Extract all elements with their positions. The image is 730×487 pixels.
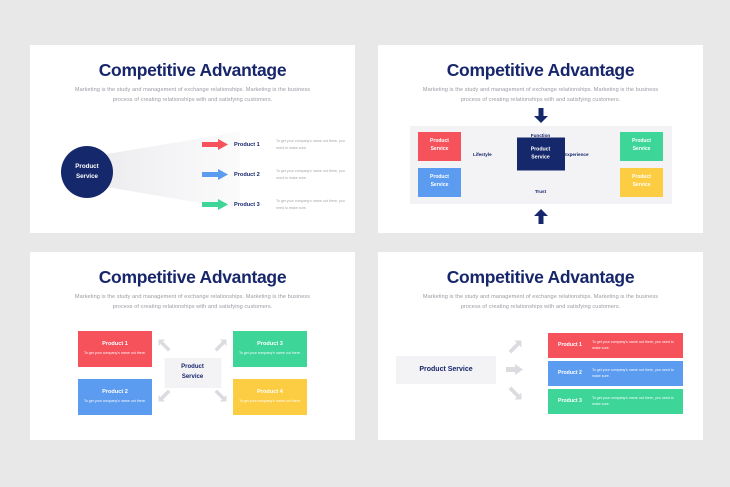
box-title: Product 3 bbox=[257, 341, 283, 347]
label-function: Function bbox=[531, 133, 550, 138]
list-item-title: Product 3 bbox=[234, 202, 272, 208]
label-experience: Experience bbox=[564, 152, 589, 157]
arrow-up-right-icon bbox=[508, 340, 522, 354]
arrow-up-right-icon bbox=[214, 339, 227, 352]
row-product-3[interactable]: Product 3 To get your company's name out… bbox=[548, 389, 683, 414]
row-title: Product 3 bbox=[548, 398, 592, 404]
box-label-line2: Service bbox=[431, 182, 449, 190]
arrow-right-icon bbox=[506, 364, 523, 375]
core-label-line1: Product bbox=[531, 146, 551, 154]
page-subtitle: Marketing is the study and management of… bbox=[418, 293, 664, 313]
box-product-1[interactable]: Product 1 To get your company's name out… bbox=[78, 331, 152, 367]
circle-label-line2: Service bbox=[76, 172, 98, 181]
row-product-2[interactable]: Product 2 To get your company's name out… bbox=[548, 361, 683, 386]
core-product-service-box[interactable]: Product Service bbox=[517, 137, 565, 170]
page-subtitle: Marketing is the study and management of… bbox=[70, 293, 316, 313]
page-subtitle: Marketing is the study and management of… bbox=[418, 86, 664, 106]
box-top-right[interactable]: Product Service bbox=[620, 132, 663, 161]
list-item-title: Product 2 bbox=[234, 172, 272, 178]
slide-3[interactable]: Competitive Advantage Marketing is the s… bbox=[30, 252, 355, 440]
arrow-down-icon bbox=[534, 108, 548, 123]
page-title: Competitive Advantage bbox=[378, 60, 703, 81]
box-label-line2: Service bbox=[431, 146, 449, 154]
slide-4-body: Product Service Product 1 To get your co… bbox=[378, 313, 703, 433]
row-product-1[interactable]: Product 1 To get your company's name out… bbox=[548, 333, 683, 358]
box-label-line1: Product bbox=[430, 138, 449, 146]
list-item[interactable]: Product 2 To get your company's name out… bbox=[202, 160, 347, 190]
arrow-group bbox=[506, 340, 536, 402]
slides-canvas: Competitive Advantage Marketing is the s… bbox=[0, 0, 730, 487]
row-desc: To get your company's name out there, yo… bbox=[592, 339, 683, 352]
box-title: Product 1 bbox=[102, 341, 128, 347]
page-subtitle: Marketing is the study and management of… bbox=[70, 86, 316, 106]
center-product-service-box[interactable]: Product Service bbox=[164, 358, 221, 388]
box-product-2[interactable]: Product 2 To get your company's name out… bbox=[78, 379, 152, 415]
product-list: Product 1 To get your company's name out… bbox=[202, 130, 347, 220]
box-label-line1: Product bbox=[632, 138, 651, 146]
box-bottom-right[interactable]: Product Service bbox=[620, 168, 663, 197]
arrow-up-left-icon bbox=[158, 339, 171, 352]
list-item-desc: To get your company's name out there, yo… bbox=[276, 168, 347, 181]
slide-2-body: Product Service Product Service Product … bbox=[378, 106, 703, 226]
page-title: Competitive Advantage bbox=[30, 267, 355, 288]
list-item[interactable]: Product 1 To get your company's name out… bbox=[202, 130, 347, 160]
box-desc: To get your company's name out there. bbox=[84, 398, 146, 404]
row-desc: To get your company's name out there, yo… bbox=[592, 395, 683, 408]
circle-label-line1: Product bbox=[75, 162, 98, 171]
list-item-title: Product 1 bbox=[234, 142, 272, 148]
arrow-down-right-icon bbox=[214, 389, 227, 402]
center-label-line1: Product bbox=[181, 363, 204, 373]
label-trust: Trust bbox=[535, 189, 546, 194]
slide-4[interactable]: Competitive Advantage Marketing is the s… bbox=[378, 252, 703, 440]
slide-2[interactable]: Competitive Advantage Marketing is the s… bbox=[378, 45, 703, 233]
arrow-down-right-icon bbox=[508, 386, 522, 400]
row-title: Product 1 bbox=[548, 342, 592, 348]
center-label-line2: Service bbox=[182, 373, 203, 383]
slide-1[interactable]: Competitive Advantage Marketing is the s… bbox=[30, 45, 355, 233]
row-title: Product 2 bbox=[548, 370, 592, 376]
list-item[interactable]: Product 3 To get your company's name out… bbox=[202, 190, 347, 220]
box-product-4[interactable]: Product 4 To get your company's name out… bbox=[233, 379, 307, 415]
box-title: Product 4 bbox=[257, 389, 283, 395]
box-bottom-left[interactable]: Product Service bbox=[418, 168, 461, 197]
box-desc: To get your company's name out there. bbox=[239, 398, 301, 404]
product-service-circle[interactable]: Product Service bbox=[61, 146, 113, 198]
box-label-line2: Service bbox=[633, 182, 651, 190]
row-desc: To get your company's name out there, yo… bbox=[592, 367, 683, 380]
box-product-3[interactable]: Product 3 To get your company's name out… bbox=[233, 331, 307, 367]
arrow-right-icon bbox=[202, 199, 228, 210]
list-item-desc: To get your company's name out there, yo… bbox=[276, 138, 347, 151]
arrow-down-left-icon bbox=[158, 389, 171, 402]
label-lifestyle: Lifestyle bbox=[473, 152, 492, 157]
page-title: Competitive Advantage bbox=[30, 60, 355, 81]
box-top-left[interactable]: Product Service bbox=[418, 132, 461, 161]
box-label-line2: Service bbox=[633, 146, 651, 154]
arrow-right-icon bbox=[202, 169, 228, 180]
box-desc: To get your company's name out there. bbox=[84, 350, 146, 356]
page-title: Competitive Advantage bbox=[378, 267, 703, 288]
box-title: Product 2 bbox=[102, 389, 128, 395]
box-label-line1: Product bbox=[632, 174, 651, 182]
core-label-line2: Service bbox=[531, 154, 549, 162]
slide-3-body: Product 1 To get your company's name out… bbox=[30, 313, 355, 433]
arrow-up-icon bbox=[534, 209, 548, 224]
box-desc: To get your company's name out there. bbox=[239, 350, 301, 356]
slide-1-body: Product Service Product 1 To get your co… bbox=[30, 108, 355, 226]
box-label-line1: Product bbox=[430, 174, 449, 182]
product-service-box[interactable]: Product Service bbox=[396, 356, 496, 384]
list-item-desc: To get your company's name out there, yo… bbox=[276, 198, 347, 211]
arrow-right-icon bbox=[202, 139, 228, 150]
